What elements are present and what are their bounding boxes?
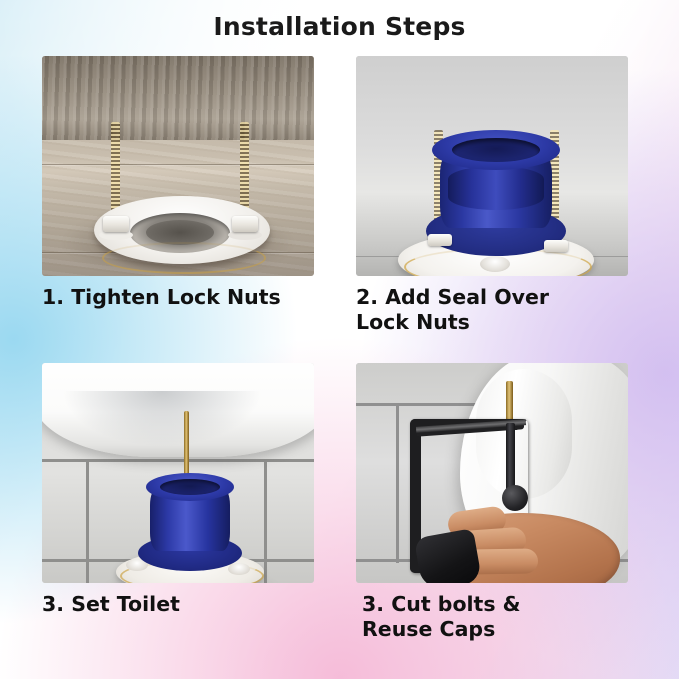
seal-waist — [448, 166, 544, 210]
hacksaw-tension-knob — [502, 485, 528, 511]
grout-line-horizontal — [42, 459, 314, 462]
installation-steps-infographic: Installation Steps 1. — [0, 0, 679, 679]
step-caption-3: 3. Set Toilet — [42, 592, 314, 617]
lock-nut-left — [428, 234, 452, 246]
step-card-2: 2. Add Seal Over Lock Nuts — [356, 56, 628, 335]
steps-grid: 1. Tighten Lock Nuts 2. Add S — [40, 56, 640, 666]
flange-metal-ring — [102, 242, 266, 274]
closet-bolt-left-icon — [111, 122, 120, 218]
lock-nut-right — [232, 216, 258, 232]
wood-wall-planks — [42, 56, 314, 140]
seal-opening — [452, 138, 540, 162]
bolt-cap — [480, 256, 510, 272]
step-caption-2: 2. Add Seal Over Lock Nuts — [356, 285, 628, 335]
hacksaw-handle-grip — [414, 528, 482, 583]
toilet-underside-shadow — [62, 391, 262, 447]
lock-nut-right — [544, 240, 568, 252]
seal-opening — [160, 479, 220, 495]
step-caption-4: 3. Cut bolts & Reuse Caps — [356, 592, 628, 642]
step-card-4: 3. Cut bolts & Reuse Caps — [356, 363, 628, 642]
grout-line-vertical — [264, 459, 267, 583]
photo-tighten-lock-nuts — [42, 56, 314, 276]
toilet-bowl — [42, 363, 314, 457]
grout-line-vertical — [86, 459, 89, 583]
step-card-1: 1. Tighten Lock Nuts — [42, 56, 314, 310]
photo-set-toilet — [42, 363, 314, 583]
step-card-3: 3. Set Toilet — [42, 363, 314, 617]
plank-seam — [42, 164, 314, 166]
photo-cut-bolts-reuse-caps — [356, 363, 628, 583]
page-title: Installation Steps — [0, 12, 679, 41]
bolt-cap-right — [228, 563, 250, 575]
hacksaw-tension-post — [506, 423, 515, 491]
step-caption-1: 1. Tighten Lock Nuts — [42, 285, 314, 310]
photo-add-seal-over-lock-nuts — [356, 56, 628, 276]
lock-nut-left — [103, 216, 129, 232]
closet-bolt-right-icon — [240, 122, 249, 218]
grout-line-vertical — [396, 403, 399, 563]
